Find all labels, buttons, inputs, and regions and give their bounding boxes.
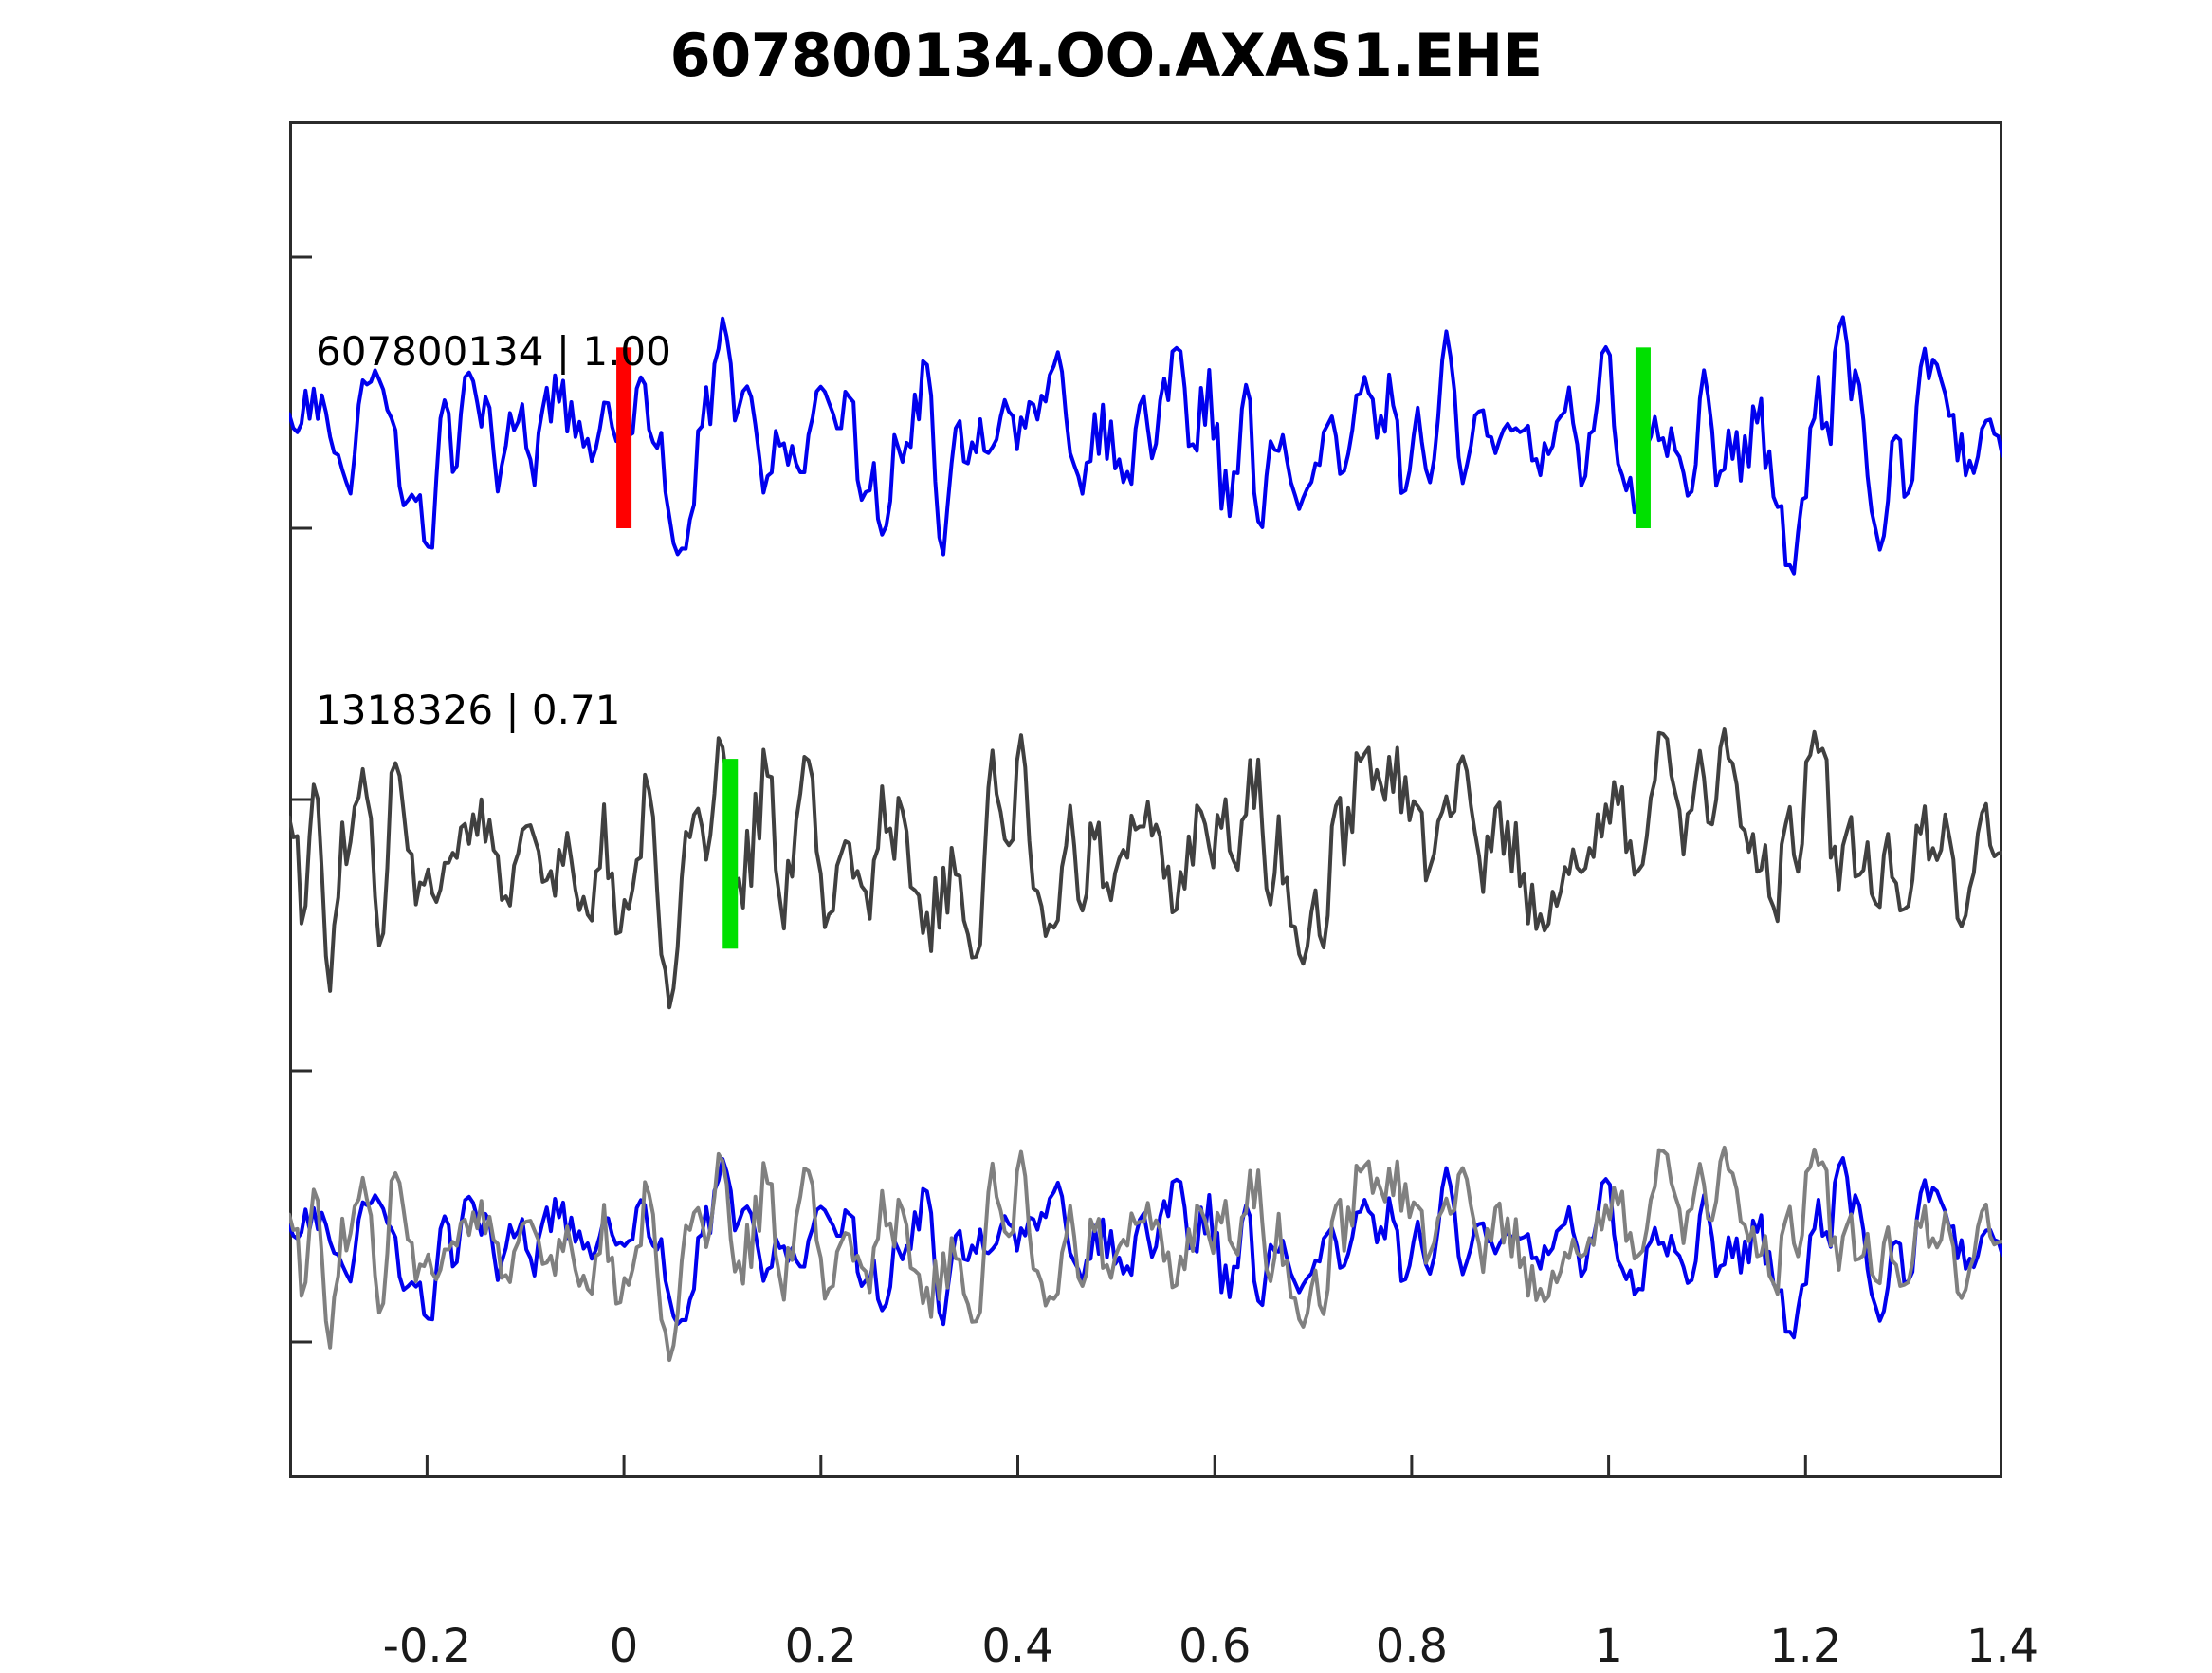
x-tick-label-7: 1.2 — [1769, 1620, 1841, 1673]
x-tick-label-8: 1.4 — [1966, 1620, 2038, 1673]
seismogram-figure: 607800134.OO.AXAS1.EHE 607800134 | 1.00 … — [0, 0, 2212, 1660]
waveform-canvas — [289, 121, 2002, 1478]
x-tick-label-5: 0.8 — [1376, 1620, 1448, 1673]
trace-label-template: 607800134 | 1.00 — [316, 332, 671, 372]
trace-label-detection: 1318326 | 0.71 — [316, 690, 620, 730]
waveform-traces — [289, 317, 2002, 1360]
x-tick-label-3: 0.4 — [981, 1620, 1053, 1673]
x-tick-label-2: 0.2 — [785, 1620, 857, 1673]
x-tick-label-1: 0 — [610, 1620, 639, 1673]
page-title: 607800134.OO.AXAS1.EHE — [0, 21, 2212, 90]
waveform-trace-1318326 — [289, 729, 2002, 1007]
marker-detection-pick — [722, 759, 738, 948]
x-tick-label-6: 1 — [1594, 1620, 1623, 1673]
x-tick-label-0: -0.2 — [383, 1620, 472, 1673]
x-tick-label-4: 0.6 — [1179, 1620, 1251, 1673]
waveform-trace-607800134-overlay — [289, 1158, 2002, 1337]
plot-area: 607800134 | 1.00 1318326 | 0.71 -0.200.2… — [289, 121, 2002, 1478]
marker-template-secondary-pick — [1636, 347, 1651, 528]
